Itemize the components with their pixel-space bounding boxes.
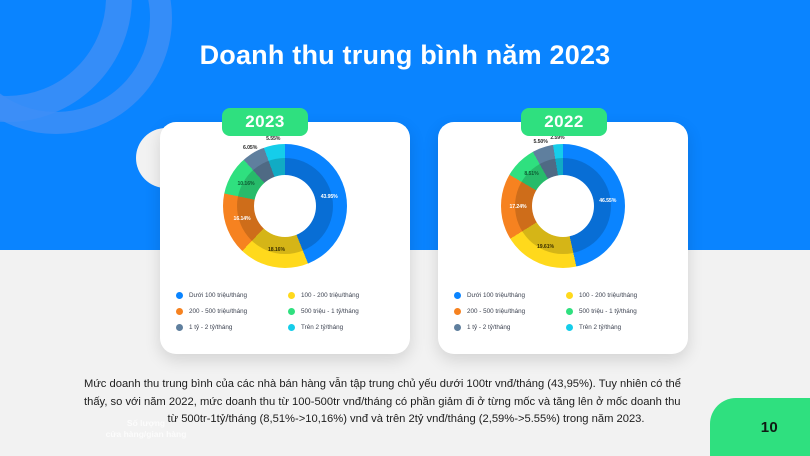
- year-badge-2023: 2023: [222, 108, 308, 136]
- page-number: 10: [761, 419, 778, 436]
- legend-label: 1 tỷ - 2 tỷ/tháng: [467, 324, 510, 331]
- legend-color-dot-icon: [454, 324, 461, 331]
- slice-label: 46.55%: [599, 198, 616, 204]
- legend-item[interactable]: 100 - 200 triệu/tháng: [566, 292, 678, 299]
- slice-label: 6.05%: [243, 145, 257, 151]
- page-title: Doanh thu trung bình năm 2023: [0, 40, 810, 71]
- slice-label: 18.16%: [268, 247, 285, 253]
- legend-color-dot-icon: [176, 324, 183, 331]
- legend-color-dot-icon: [288, 308, 295, 315]
- slice-label: 8.51%: [524, 171, 538, 177]
- legend-item[interactable]: 1 tỷ - 2 tỷ/tháng: [454, 324, 566, 331]
- slice-label: 17.24%: [510, 204, 527, 210]
- legend-item[interactable]: 1 tỷ - 2 tỷ/tháng: [176, 324, 288, 331]
- legend-label: Dưới 100 triệu/tháng: [467, 292, 525, 299]
- caption-line-1: Mức doanh thu trung bình của các nhà bán…: [84, 376, 728, 394]
- legend-label: Trên 2 tỷ/tháng: [301, 324, 343, 331]
- legend-2022: Dưới 100 triệu/tháng100 - 200 triệu/thán…: [454, 292, 678, 340]
- legend-item[interactable]: Dưới 100 triệu/tháng: [176, 292, 288, 299]
- legend-label: Trên 2 tỷ/tháng: [579, 324, 621, 331]
- donut-hole: [532, 175, 594, 237]
- caption-line-2: thấy, so với năm 2022, mức doanh thu từ …: [84, 394, 728, 412]
- legend-color-dot-icon: [288, 324, 295, 331]
- donut-hole: [254, 175, 316, 237]
- legend-color-dot-icon: [566, 292, 573, 299]
- legend-item[interactable]: 500 triệu - 1 tỷ/tháng: [566, 308, 678, 315]
- legend-label: 500 triệu - 1 tỷ/tháng: [579, 308, 637, 315]
- legend-item[interactable]: Dưới 100 triệu/tháng: [454, 292, 566, 299]
- legend-label: 100 - 200 triệu/tháng: [301, 292, 359, 299]
- slice-label: 16.14%: [234, 216, 251, 222]
- donut-chart-2022: 46.55%19.61%17.24%8.51%5.50%2.59%: [501, 144, 625, 268]
- legend-color-dot-icon: [454, 308, 461, 315]
- legend-item[interactable]: Trên 2 tỷ/tháng: [566, 324, 678, 331]
- legend-color-dot-icon: [176, 292, 183, 299]
- slice-label: 10.16%: [238, 181, 255, 187]
- donut-chart-2023: 43.95%18.16%16.14%10.16%6.05%5.55%: [223, 144, 347, 268]
- legend-item[interactable]: 200 - 500 triệu/tháng: [176, 308, 288, 315]
- slice-label: 19.61%: [537, 244, 554, 250]
- caption-text: Mức doanh thu trung bình của các nhà bán…: [84, 376, 728, 429]
- slice-label: 2.59%: [550, 135, 564, 141]
- legend-label: Dưới 100 triệu/tháng: [189, 292, 247, 299]
- slice-label: 43.95%: [321, 194, 338, 200]
- year-badge-2022: 2022: [521, 108, 607, 136]
- legend-item[interactable]: Trên 2 tỷ/tháng: [288, 324, 400, 331]
- legend-color-dot-icon: [566, 324, 573, 331]
- legend-color-dot-icon: [566, 308, 573, 315]
- legend-2023: Dưới 100 triệu/tháng100 - 200 triệu/thán…: [176, 292, 400, 340]
- legend-item[interactable]: 200 - 500 triệu/tháng: [454, 308, 566, 315]
- legend-color-dot-icon: [176, 308, 183, 315]
- caption-line-3: từ 500tr-1tỷ/tháng (8,51%->10,16%) vnđ v…: [84, 411, 728, 429]
- legend-label: 500 triệu - 1 tỷ/tháng: [301, 308, 359, 315]
- legend-label: 1 tỷ - 2 tỷ/tháng: [189, 324, 232, 331]
- legend-item[interactable]: 500 triệu - 1 tỷ/tháng: [288, 308, 400, 315]
- watermark-line-2: cửa hàng/gian hàng: [106, 429, 187, 439]
- slice-label: 5.50%: [534, 139, 548, 145]
- slide-canvas: Doanh thu trung bình năm 2023 2023 43.95…: [0, 0, 810, 456]
- legend-label: 200 - 500 triệu/tháng: [467, 308, 525, 315]
- legend-label: 200 - 500 triệu/tháng: [189, 308, 247, 315]
- chart-card-2023: 43.95%18.16%16.14%10.16%6.05%5.55% Dưới …: [160, 122, 410, 354]
- legend-label: 100 - 200 triệu/tháng: [579, 292, 637, 299]
- slice-label: 5.55%: [266, 136, 280, 142]
- legend-color-dot-icon: [288, 292, 295, 299]
- legend-item[interactable]: 100 - 200 triệu/tháng: [288, 292, 400, 299]
- legend-color-dot-icon: [454, 292, 461, 299]
- chart-card-2022: 46.55%19.61%17.24%8.51%5.50%2.59% Dưới 1…: [438, 122, 688, 354]
